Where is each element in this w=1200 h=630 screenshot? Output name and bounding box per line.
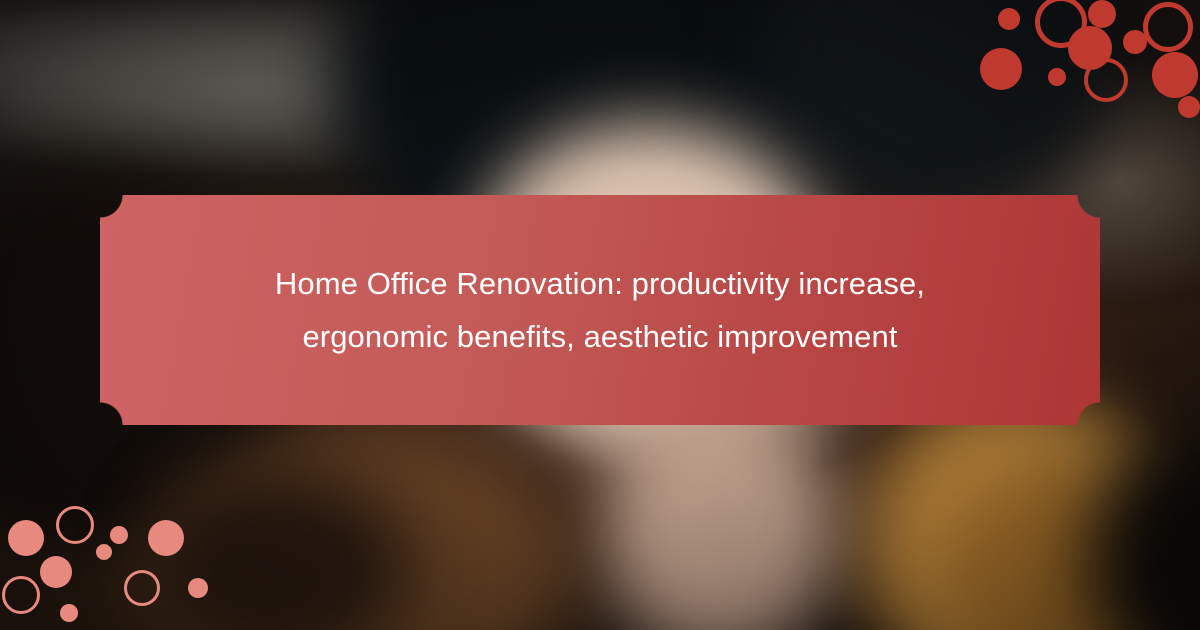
- decorative-dot: [980, 48, 1022, 90]
- decorative-dot: [1088, 0, 1116, 28]
- decorative-dot: [96, 544, 112, 560]
- decorative-dot: [40, 556, 72, 588]
- decorative-dot: [1048, 68, 1066, 86]
- decorative-dot: [148, 520, 184, 556]
- decorative-dot: [110, 526, 128, 544]
- decorative-dot: [56, 506, 94, 544]
- promo-banner: Home Office Renovation: productivity inc…: [0, 0, 1200, 630]
- decorative-dots-top-right: [980, 0, 1200, 120]
- decorative-dot: [60, 604, 78, 622]
- decorative-dot: [998, 8, 1020, 30]
- page-title: Home Office Renovation: productivity inc…: [200, 257, 1000, 364]
- decorative-dot: [1084, 58, 1128, 102]
- decorative-dots-bottom-left: [0, 500, 240, 630]
- decorative-dot: [1143, 2, 1193, 52]
- decorative-dot: [124, 570, 160, 606]
- decorative-dot: [1123, 30, 1147, 54]
- decorative-dot: [1152, 52, 1198, 98]
- title-card: Home Office Renovation: productivity inc…: [100, 195, 1100, 425]
- decorative-dot: [188, 578, 208, 598]
- decorative-dot: [8, 520, 44, 556]
- decorative-dot: [1178, 96, 1200, 118]
- decorative-dot: [2, 576, 40, 614]
